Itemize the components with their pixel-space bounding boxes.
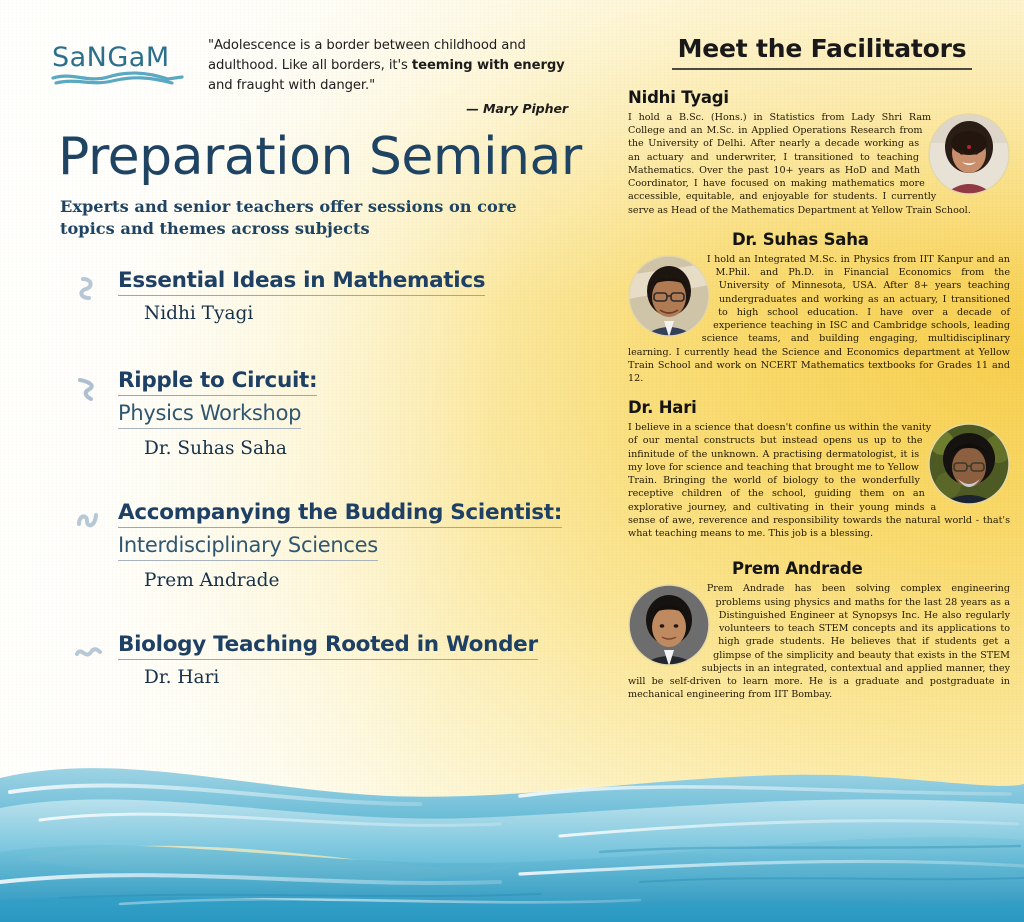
quote-attribution: — Mary Pipher bbox=[208, 99, 568, 118]
sangam-logo: SaNGaM bbox=[50, 36, 190, 88]
session-speaker: Nidhi Tyagi bbox=[144, 303, 594, 325]
squiggle-icon bbox=[74, 506, 104, 536]
facilitator-card[interactable]: Dr. Hari bbox=[620, 396, 1024, 544]
session-item[interactable]: Essential Ideas in Mathematics Nidhi Tya… bbox=[74, 268, 594, 330]
facilitator-name: Dr. Hari bbox=[628, 398, 1010, 417]
facilitator-card[interactable]: Dr. Suhas Saha bbox=[620, 228, 1024, 389]
squiggle-icon bbox=[74, 374, 104, 404]
quote-text-bold: teeming with energy bbox=[412, 58, 565, 73]
session-subtitle: Physics Workshop bbox=[118, 401, 301, 429]
session-subtitle: Interdisciplinary Sciences bbox=[118, 533, 378, 561]
squiggle-icon bbox=[74, 274, 104, 304]
session-list: Essential Ideas in Mathematics Nidhi Tya… bbox=[74, 268, 594, 694]
facilitators-column: Meet the Facilitators Nidhi Tyagi bbox=[620, 0, 1024, 800]
page-subtitle: Experts and senior teachers offer sessio… bbox=[60, 196, 560, 239]
session-title: Accompanying the Budding Scientist: bbox=[118, 500, 562, 528]
session-title: Essential Ideas in Mathematics bbox=[118, 268, 485, 296]
session-speaker: Prem Andrade bbox=[144, 570, 594, 592]
session-title: Biology Teaching Rooted in Wonder bbox=[118, 632, 538, 660]
avatar bbox=[628, 584, 710, 666]
session-item[interactable]: Ripple to Circuit: Physics Workshop Dr. … bbox=[74, 368, 594, 460]
facilitator-name: Prem Andrade bbox=[628, 559, 1010, 578]
facilitators-heading: Meet the Facilitators bbox=[620, 34, 1024, 63]
svg-text:SaNGaM: SaNGaM bbox=[52, 42, 170, 73]
session-title: Ripple to Circuit: bbox=[118, 368, 317, 396]
quote-text-part2: and fraught with danger." bbox=[208, 78, 375, 93]
session-speaker: Dr. Hari bbox=[144, 667, 594, 689]
facilitator-name: Nidhi Tyagi bbox=[628, 88, 1010, 107]
avatar bbox=[628, 255, 710, 337]
avatar bbox=[928, 423, 1010, 505]
heading-underline bbox=[672, 68, 972, 70]
page-title: Preparation Seminar bbox=[58, 130, 598, 185]
quote-block: "Adolescence is a border between childho… bbox=[208, 36, 568, 118]
session-item[interactable]: Accompanying the Budding Scientist: Inte… bbox=[74, 500, 594, 592]
squiggle-icon bbox=[74, 638, 104, 668]
left-column: SaNGaM "Adolescence is a border between … bbox=[0, 0, 620, 810]
poster-canvas: SaNGaM "Adolescence is a border between … bbox=[0, 0, 1024, 922]
facilitator-name: Dr. Suhas Saha bbox=[628, 230, 1010, 249]
session-item[interactable]: Biology Teaching Rooted in Wonder Dr. Ha… bbox=[74, 632, 594, 694]
session-speaker: Dr. Suhas Saha bbox=[144, 438, 594, 460]
avatar bbox=[928, 113, 1010, 195]
watercolor-ocean-waves bbox=[0, 732, 1024, 922]
facilitator-card[interactable]: Nidhi Tyagi bbox=[620, 88, 1024, 221]
facilitator-list: Nidhi Tyagi bbox=[620, 88, 1024, 712]
facilitator-card[interactable]: Prem Andrade bbox=[620, 551, 1024, 705]
